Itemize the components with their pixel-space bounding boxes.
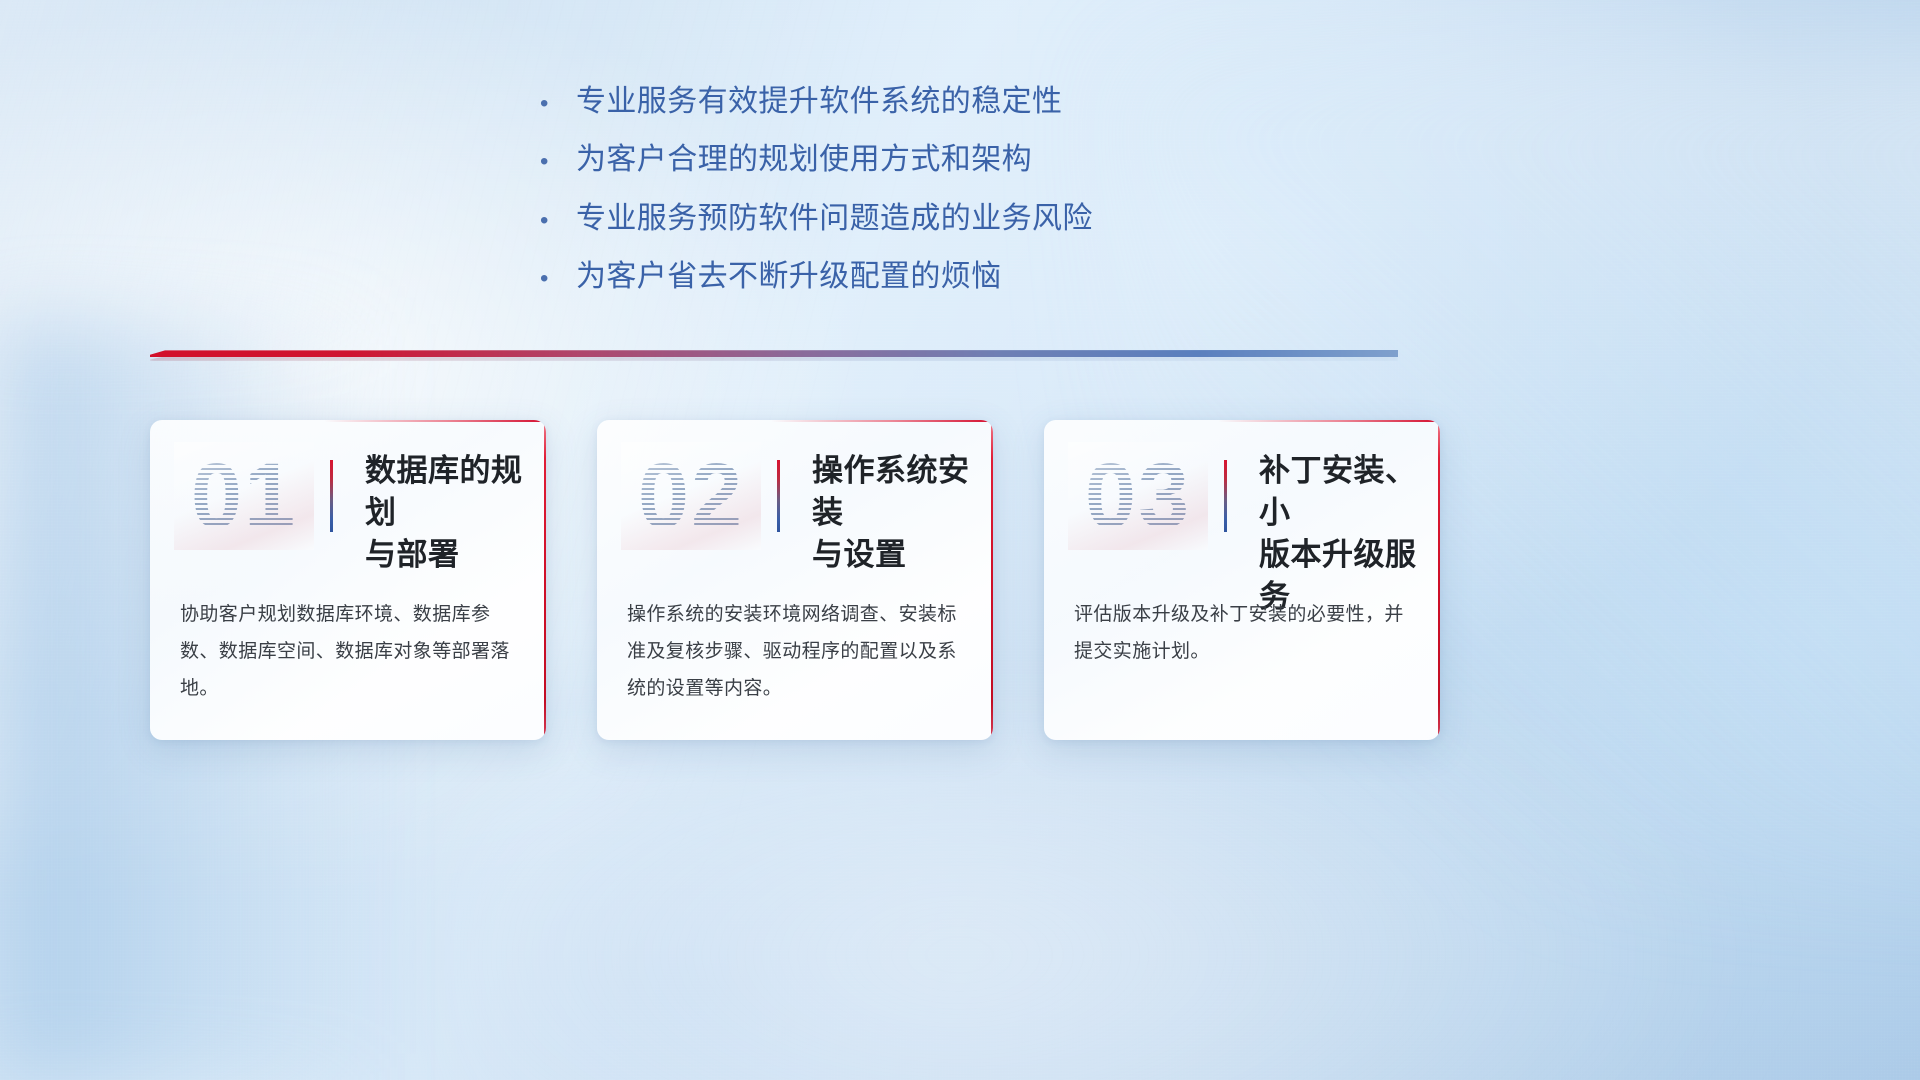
benefits-bullet-list: • 专业服务有效提升软件系统的稳定性 • 为客户合理的规划使用方式和架构 • 专… (540, 84, 1093, 295)
card-number: 03 (1068, 442, 1208, 550)
list-item: • 专业服务预防软件问题造成的业务风险 (540, 201, 1093, 236)
list-item: • 专业服务有效提升软件系统的稳定性 (540, 84, 1093, 119)
card-body-text: 协助客户规划数据库环境、数据库参数、数据库空间、数据库对象等部署落地。 (180, 596, 520, 707)
service-card[interactable]: 01 数据库的规划 与部署 协助客户规划数据库环境、数据库参数、数据库空间、数据… (150, 420, 546, 740)
card-body-text: 操作系统的安装环境网络调查、安装标准及复核步骤、驱动程序的配置以及系统的设置等内… (627, 596, 967, 707)
card-title-rule (1224, 460, 1227, 532)
card-title: 操作系统安装 与设置 (812, 450, 977, 576)
service-card[interactable]: 02 操作系统安装 与设置 操作系统的安装环境网络调查、安装标准及复核步骤、驱动… (597, 420, 993, 740)
bullet-dot-icon: • (540, 209, 576, 233)
bullet-dot-icon: • (540, 150, 576, 174)
service-card[interactable]: 03 补丁安装、小 版本升级服务 评估版本升级及补丁安装的必要性，并提交实施计划… (1044, 420, 1440, 740)
section-divider (150, 346, 1398, 364)
card-header: 02 操作系统安装 与设置 (597, 420, 993, 588)
bullet-text: 为客户合理的规划使用方式和架构 (576, 142, 1032, 177)
bullet-text: 为客户省去不断升级配置的烦恼 (576, 259, 1002, 294)
card-title-rule (777, 460, 780, 532)
card-number: 01 (174, 442, 314, 550)
card-body-text: 评估版本升级及补丁安装的必要性，并提交实施计划。 (1074, 596, 1414, 670)
card-header: 01 数据库的规划 与部署 (150, 420, 546, 588)
bullet-dot-icon: • (540, 92, 576, 116)
list-item: • 为客户合理的规划使用方式和架构 (540, 142, 1093, 177)
bullet-text: 专业服务预防软件问题造成的业务风险 (576, 201, 1093, 236)
card-title: 数据库的规划 与部署 (365, 450, 530, 576)
card-title: 补丁安装、小 版本升级服务 (1259, 450, 1424, 619)
list-item: • 为客户省去不断升级配置的烦恼 (540, 259, 1093, 294)
card-number: 02 (621, 442, 761, 550)
bullet-text: 专业服务有效提升软件系统的稳定性 (576, 84, 1062, 119)
card-title-rule (330, 460, 333, 532)
card-header: 03 补丁安装、小 版本升级服务 (1044, 420, 1440, 588)
bullet-dot-icon: • (540, 267, 576, 291)
divider-bar (150, 350, 1398, 357)
